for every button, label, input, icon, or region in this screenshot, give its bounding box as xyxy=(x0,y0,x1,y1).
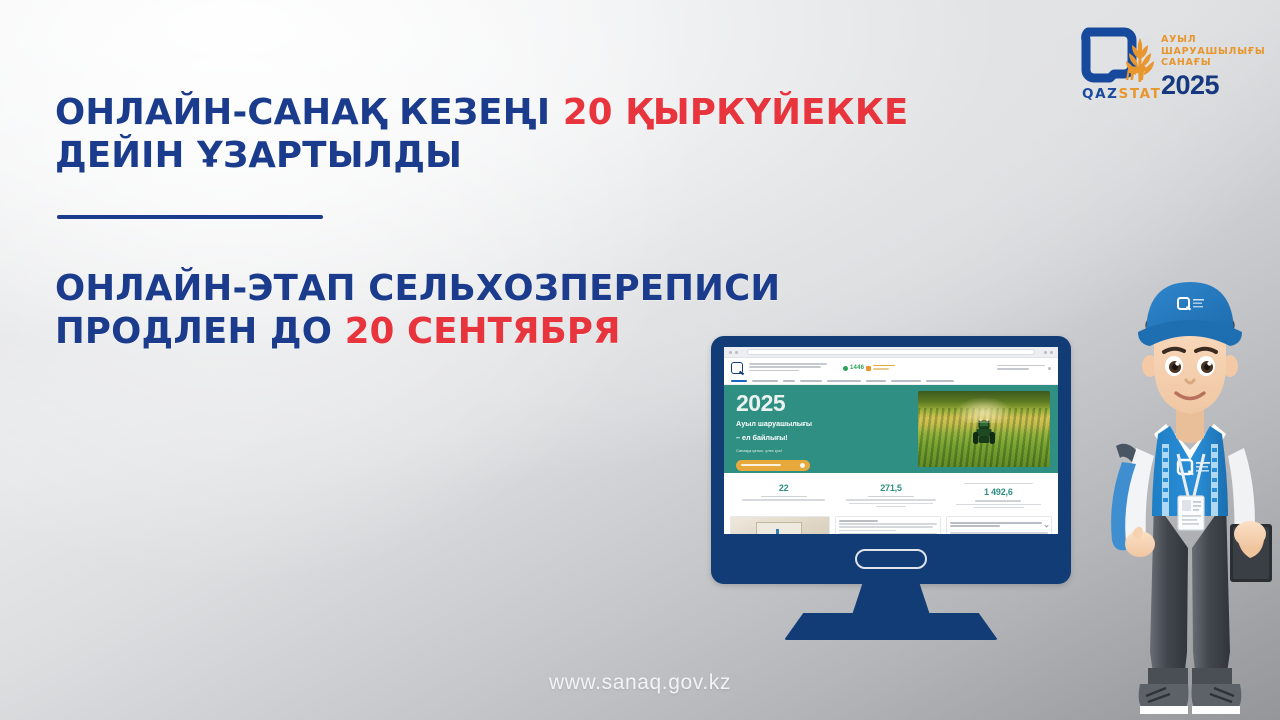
logo-line-3: САНАҒЫ xyxy=(1161,57,1265,69)
hero-cta-arrow-icon xyxy=(800,463,805,468)
horse-icon xyxy=(1122,58,1152,82)
logo-wordmark-qaz: QAZ xyxy=(1082,86,1119,102)
headline-kazakh: ОНЛАЙН-САНАҚ КЕЗЕҢІ 20 ҚЫРКҮЙЕККЕ ДЕЙІН … xyxy=(55,92,908,177)
monitor-base xyxy=(784,613,998,640)
news-image-card[interactable] xyxy=(730,516,830,534)
faq-item[interactable] xyxy=(950,520,1048,530)
site-header: 1446 xyxy=(724,358,1058,378)
hero-title-line1: Ауыл шаруашылығы xyxy=(736,419,918,428)
stat-card: 22 xyxy=(730,483,837,508)
qazstat-census-logo: QAZSTAT АУЫЛ ШАРУАШЫЛЫҒЫ САНАҒЫ 2025 xyxy=(1078,24,1258,108)
stat-unit xyxy=(975,500,1021,501)
stat-desc-line xyxy=(846,499,935,500)
nav-item-7[interactable] xyxy=(926,380,954,382)
browser-reload-icon xyxy=(735,351,738,354)
nav-item-4[interactable] xyxy=(827,380,861,382)
browser-menu-icon xyxy=(1044,351,1047,354)
browser-back-icon xyxy=(729,351,732,354)
nav-item-2[interactable] xyxy=(783,380,795,382)
mascot-left-sleeve xyxy=(1125,448,1154,540)
mascot-id-badge xyxy=(1178,496,1204,530)
site-hotline-number: 1446 xyxy=(850,365,864,371)
stat-value: 271,5 xyxy=(841,483,940,493)
stat-card: 1 492,6 xyxy=(945,483,1052,508)
headline-russian-part2: ПРОДЛЕН ДО xyxy=(55,311,345,352)
monitor-illustration: 1446 xyxy=(711,336,1071,666)
site-statistics: 22 271,5 1 492, xyxy=(724,473,1058,514)
nav-item-home[interactable] xyxy=(731,380,747,382)
tractor-icon xyxy=(972,417,995,445)
nav-item-3[interactable] xyxy=(800,380,822,382)
phone-icon xyxy=(843,366,848,371)
poster-background: QAZSTAT АУЫЛ ШАРУАШЫЛЫҒЫ САНАҒЫ 2025 ОНЛ… xyxy=(0,0,1280,720)
hero-cta-label xyxy=(741,464,781,466)
headline-divider xyxy=(57,215,323,219)
site-logo-icon xyxy=(731,362,743,374)
monitor-screen: 1446 xyxy=(724,347,1058,534)
mascot-right-hand xyxy=(1234,521,1266,547)
stat-unit xyxy=(761,496,807,497)
nav-item-6[interactable] xyxy=(891,380,921,382)
browser-address-bar[interactable] xyxy=(747,349,1035,355)
browser-profile-icon xyxy=(1050,351,1053,354)
site-hero-banner: 2025 Ауыл шаруашылығы – ел байлығы! Сана… xyxy=(724,385,1058,473)
hero-image-block xyxy=(918,385,1058,473)
headline-russian-line2: ПРОДЛЕН ДО 20 СЕНТЯБРЯ xyxy=(55,311,780,354)
logo-wordmark: QAZSTAT xyxy=(1082,86,1161,102)
hero-title-line2: – ел байлығы! xyxy=(736,433,918,442)
site-org-name xyxy=(749,363,827,373)
news-card-date xyxy=(839,520,878,521)
stat-value: 22 xyxy=(734,483,833,493)
site-hotline[interactable]: 1446 xyxy=(843,365,895,371)
hero-cta-button[interactable] xyxy=(736,460,810,471)
hero-subtitle: Санаққа қатыс, үлес қос! xyxy=(736,448,918,453)
nav-item-5[interactable] xyxy=(866,380,886,382)
headline-kazakh-date: 20 ҚЫРКҮЙЕККЕ xyxy=(563,92,909,133)
hotline-badge-icon xyxy=(866,366,871,371)
logo-text-block: АУЫЛ ШАРУАШЫЛЫҒЫ САНАҒЫ 2025 xyxy=(1161,32,1265,100)
headline-kazakh-line2: ДЕЙІН ҰЗАРТЫЛДЫ xyxy=(55,135,908,178)
logo-year: 2025 xyxy=(1161,71,1265,100)
site-content-cards xyxy=(724,514,1058,534)
hero-year: 2025 xyxy=(736,392,918,414)
census-enumerator-mascot xyxy=(1092,248,1280,720)
headline-kazakh-line1: ОНЛАЙН-САНАҚ КЕЗЕҢІ 20 ҚЫРКҮЙЕККЕ xyxy=(55,92,908,135)
flag-icon xyxy=(776,529,779,534)
stat-desc-line xyxy=(849,503,932,504)
headline-russian: ОНЛАЙН-ЭТАП СЕЛЬХОЗПЕРЕПИСИ ПРОДЛЕН ДО 2… xyxy=(55,268,780,353)
site-navigation xyxy=(724,378,1058,385)
headline-russian-line1: ОНЛАЙН-ЭТАП СЕЛЬХОЗПЕРЕПИСИ xyxy=(55,268,780,311)
chevron-down-icon xyxy=(1044,523,1048,527)
monitor-neck xyxy=(852,582,930,615)
stat-desc-line xyxy=(742,499,825,500)
monitor-home-button xyxy=(855,549,927,569)
stat-card: 271,5 xyxy=(837,483,944,508)
hero-text-block: 2025 Ауыл шаруашылығы – ел байлығы! Сана… xyxy=(724,385,918,473)
news-text-card[interactable] xyxy=(835,516,941,534)
headline-russian-date: 20 СЕНТЯБРЯ xyxy=(345,311,621,352)
site-lang-switch[interactable] xyxy=(1048,367,1051,370)
hero-field-photo xyxy=(918,391,1050,467)
stat-desc-line xyxy=(956,504,1041,505)
logo-line-1: АУЫЛ xyxy=(1161,34,1265,46)
browser-toolbar xyxy=(724,347,1058,358)
stat-desc-line xyxy=(973,507,1025,508)
logo-wordmark-stat: STAT xyxy=(1119,86,1162,102)
census-website-mockup: 1446 xyxy=(724,347,1058,534)
stat-date-line xyxy=(964,483,1034,484)
faq-question xyxy=(950,522,1042,528)
logo-mark: QAZSTAT xyxy=(1078,24,1156,108)
stat-unit xyxy=(868,496,914,497)
headline-kazakh-part1: ОНЛАЙН-САНАҚ КЕЗЕҢІ xyxy=(55,92,563,133)
stat-desc-line xyxy=(876,506,906,507)
site-header-actions xyxy=(997,365,1051,371)
nav-item-1[interactable] xyxy=(752,380,778,382)
footer-website-url: www.sanaq.gov.kz xyxy=(0,671,1280,695)
faq-card[interactable] xyxy=(946,516,1052,534)
stat-value: 1 492,6 xyxy=(949,487,1048,497)
logo-line-2: ШАРУАШЫЛЫҒЫ xyxy=(1161,46,1265,58)
monitor-bezel: 1446 xyxy=(711,336,1071,584)
